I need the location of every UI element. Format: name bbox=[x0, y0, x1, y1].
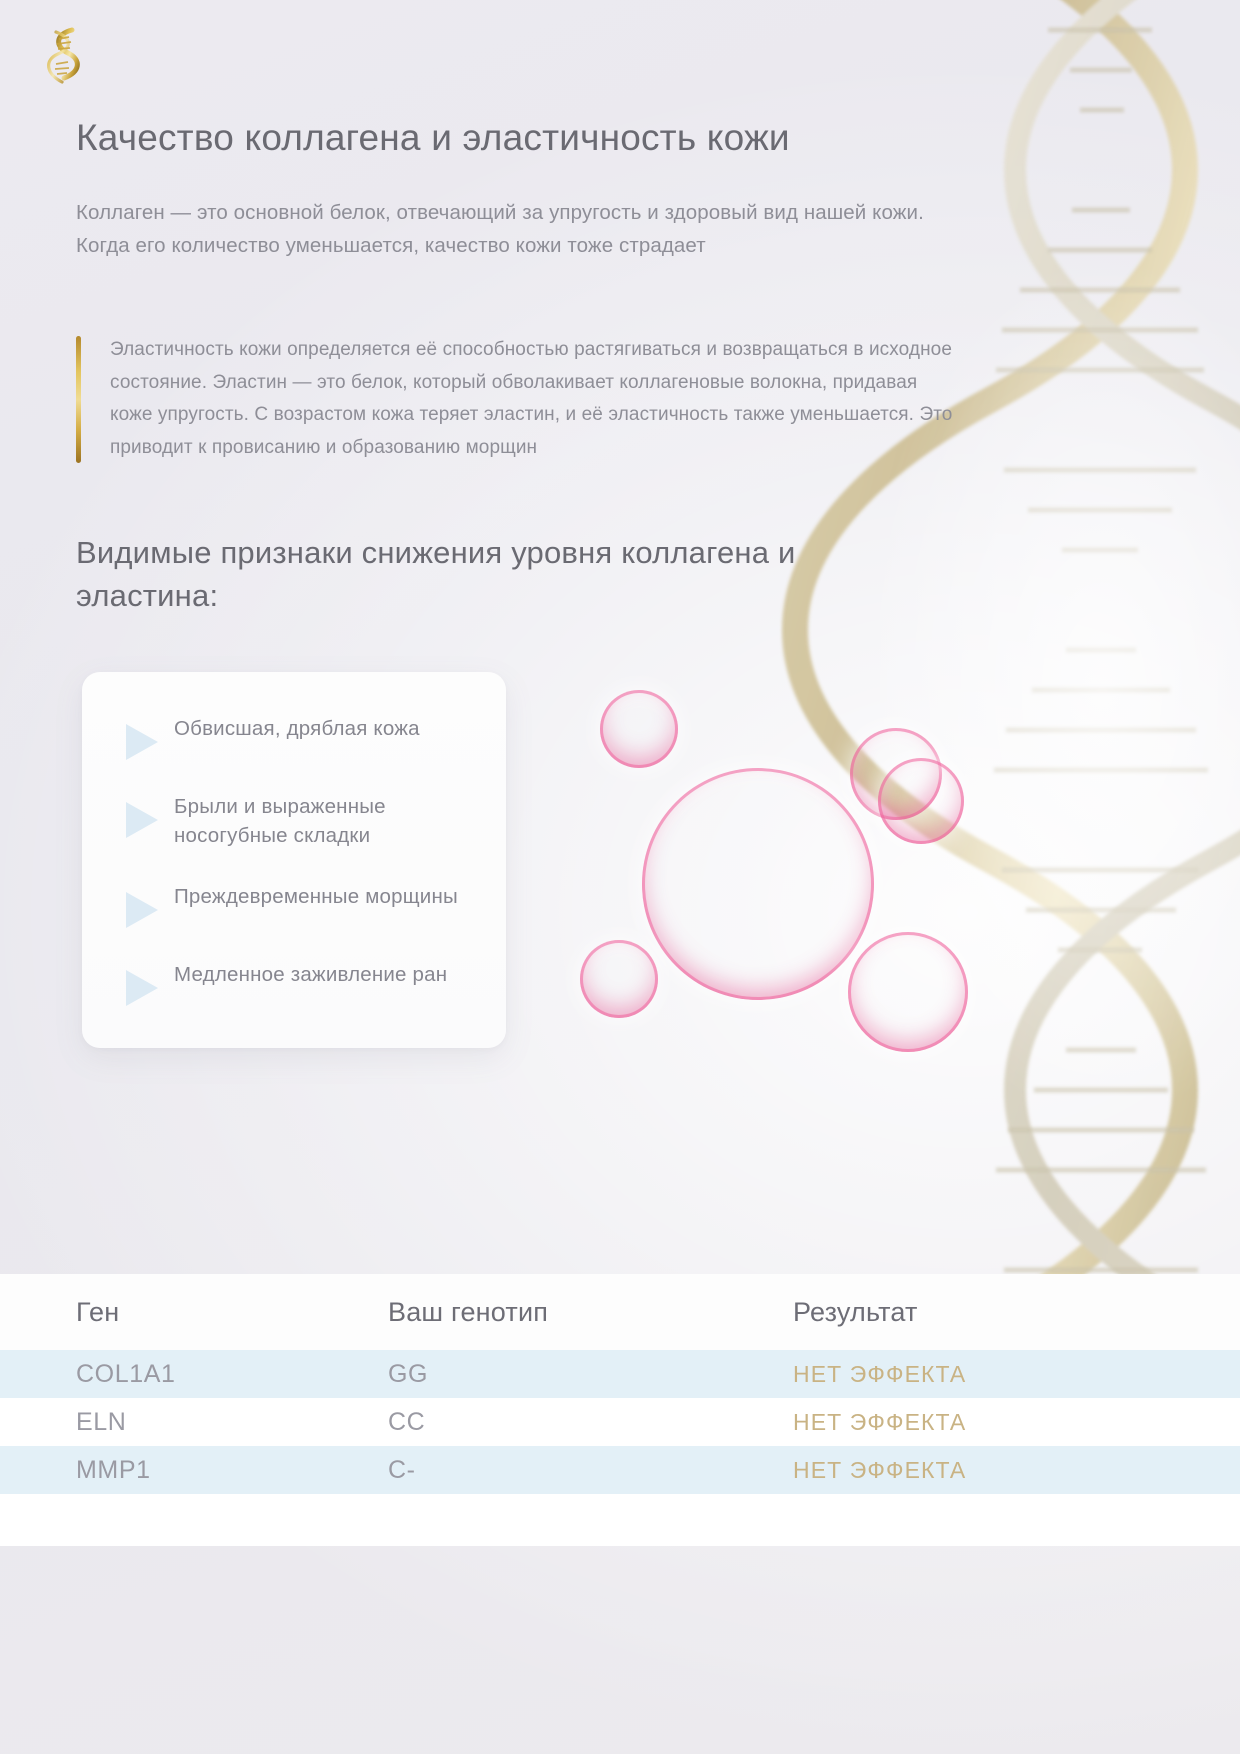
list-item: Медленное заживление ран bbox=[104, 958, 476, 1006]
gold-accent-bar bbox=[76, 336, 81, 463]
cell-result: НЕТ ЭФФЕКТА bbox=[793, 1409, 1200, 1436]
page-title: Качество коллагена и эластичность кожи bbox=[76, 116, 1036, 160]
bubble-medium-top-right-back bbox=[850, 728, 942, 820]
report-page: Качество коллагена и эластичность кожи К… bbox=[0, 0, 1240, 1754]
list-item-label: Преждевременные морщины bbox=[174, 880, 458, 911]
column-header-gene: Ген bbox=[76, 1297, 388, 1328]
triangle-right-icon bbox=[126, 970, 158, 1006]
table-row: ELN CC НЕТ ЭФФЕКТА bbox=[0, 1398, 1240, 1446]
triangle-right-icon bbox=[126, 802, 158, 838]
bubble-small-top-left bbox=[600, 690, 678, 768]
list-item-label: Медленное заживление ран bbox=[174, 958, 447, 989]
list-item-label: Брыли и выраженные носогубные складки bbox=[174, 790, 474, 850]
list-item: Преждевременные морщины bbox=[104, 880, 476, 928]
intro-paragraph: Коллаген — это основной белок, отвечающи… bbox=[76, 196, 976, 262]
table-row: COL1A1 GG НЕТ ЭФФЕКТА bbox=[0, 1350, 1240, 1398]
list-item-label: Обвисшая, дряблая кожа bbox=[174, 712, 420, 743]
table-header-row: Ген Ваш генотип Результат bbox=[0, 1274, 1240, 1350]
section-title: Видимые признаки снижения уровня коллаге… bbox=[76, 532, 896, 618]
highlight-quote-block: Эластичность кожи определяется её способ… bbox=[76, 334, 956, 465]
table-row: MMP1 C- НЕТ ЭФФЕКТА bbox=[0, 1446, 1240, 1494]
triangle-right-icon bbox=[126, 724, 158, 760]
cell-result: НЕТ ЭФФЕКТА bbox=[793, 1457, 1200, 1484]
column-header-genotype: Ваш генотип bbox=[388, 1297, 793, 1328]
cell-gene: COL1A1 bbox=[76, 1360, 388, 1389]
table-bottom-spacer bbox=[0, 1494, 1240, 1546]
list-item: Брыли и выраженные носогубные складки bbox=[104, 790, 476, 850]
bubble-large-center bbox=[642, 768, 874, 1000]
bubble-medium-top-right-front bbox=[878, 758, 964, 844]
dna-helix-icon bbox=[42, 26, 94, 88]
triangle-right-icon bbox=[126, 892, 158, 928]
genotype-results-table: Ген Ваш генотип Результат COL1A1 GG НЕТ … bbox=[0, 1274, 1240, 1546]
cell-result: НЕТ ЭФФЕКТА bbox=[793, 1361, 1200, 1388]
cell-gene: ELN bbox=[76, 1408, 388, 1437]
visible-signs-card: Обвисшая, дряблая кожа Брыли и выраженны… bbox=[82, 672, 506, 1048]
collagen-bubbles-illustration bbox=[560, 640, 1120, 1140]
list-item: Обвисшая, дряблая кожа bbox=[104, 712, 476, 760]
column-header-result: Результат bbox=[793, 1297, 1200, 1328]
cell-genotype: GG bbox=[388, 1360, 793, 1389]
cell-genotype: CC bbox=[388, 1408, 793, 1437]
cell-gene: MMP1 bbox=[76, 1456, 388, 1485]
bubble-small-bottom-left bbox=[580, 940, 658, 1018]
quote-text: Эластичность кожи определяется её способ… bbox=[110, 334, 956, 465]
bubble-medium-bottom-right bbox=[848, 932, 968, 1052]
cell-genotype: C- bbox=[388, 1456, 793, 1485]
